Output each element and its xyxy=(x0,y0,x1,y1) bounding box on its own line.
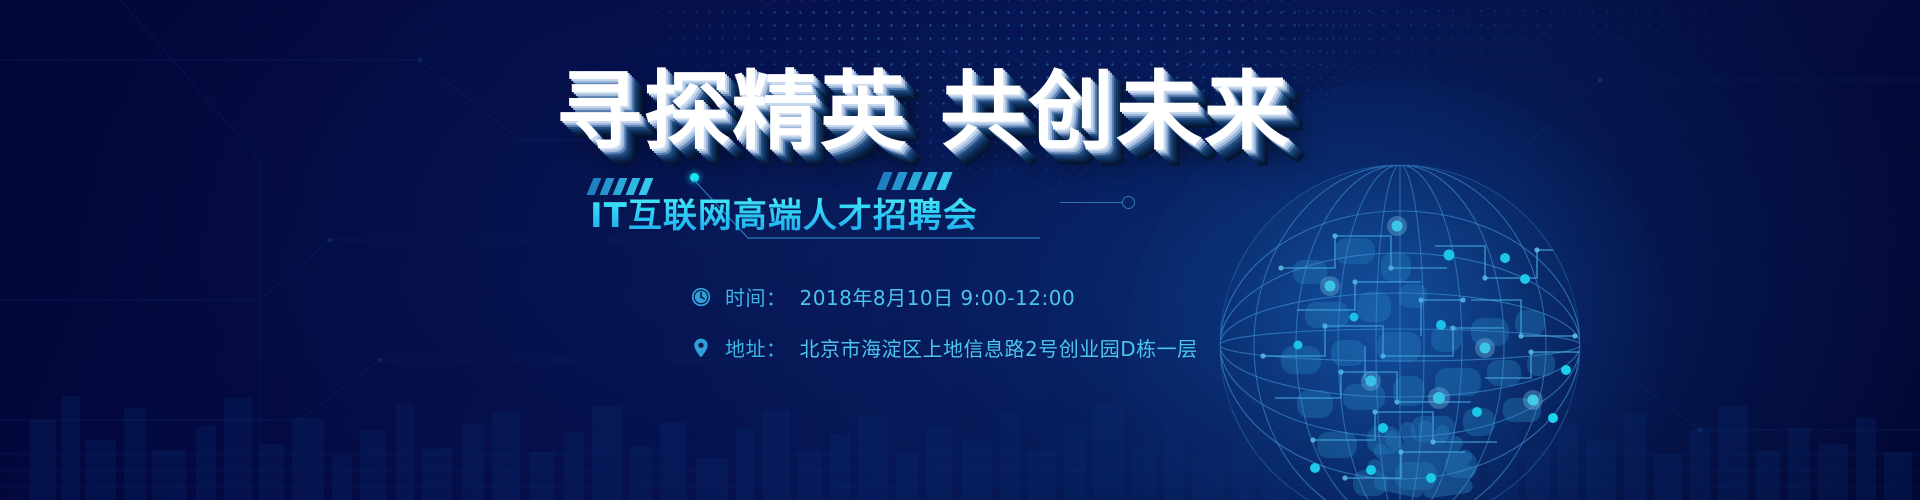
connector-circle xyxy=(1122,196,1135,209)
info-value-address: 北京市海淀区上地信息路2号创业园D栋一层 xyxy=(800,333,1198,362)
info-row-address: 地址： 北京市海淀区上地信息路2号创业园D栋一层 xyxy=(690,333,1198,362)
slash-marks-decoration-upper xyxy=(880,172,949,190)
network-globe-graphic xyxy=(1185,140,1615,500)
connector-line-with-circle xyxy=(1060,196,1135,209)
page-title: 寻探精英 共创未来 xyxy=(556,62,1276,162)
info-value-time: 2018年8月10日 9:00-12:00 xyxy=(800,282,1076,311)
info-label-address: 地址： xyxy=(725,333,787,362)
subtitle: IT互联网高端人才招聘会 xyxy=(590,188,978,237)
accent-dot xyxy=(690,173,699,182)
headline-block: 寻探精英 共创未来 xyxy=(556,62,1276,162)
recruitment-banner: 寻探精英 共创未来 IT互联网高端人才招聘会 时间： xyxy=(0,0,1920,500)
connector-segment xyxy=(1060,202,1122,203)
location-pin-icon xyxy=(690,337,712,359)
event-info-list: 时间： 2018年8月10日 9:00-12:00 地址： 北京市海淀区上地信息… xyxy=(690,282,1198,362)
clock-icon xyxy=(690,286,712,308)
info-row-time: 时间： 2018年8月10日 9:00-12:00 xyxy=(690,282,1198,311)
info-label-time: 时间： xyxy=(725,282,787,311)
